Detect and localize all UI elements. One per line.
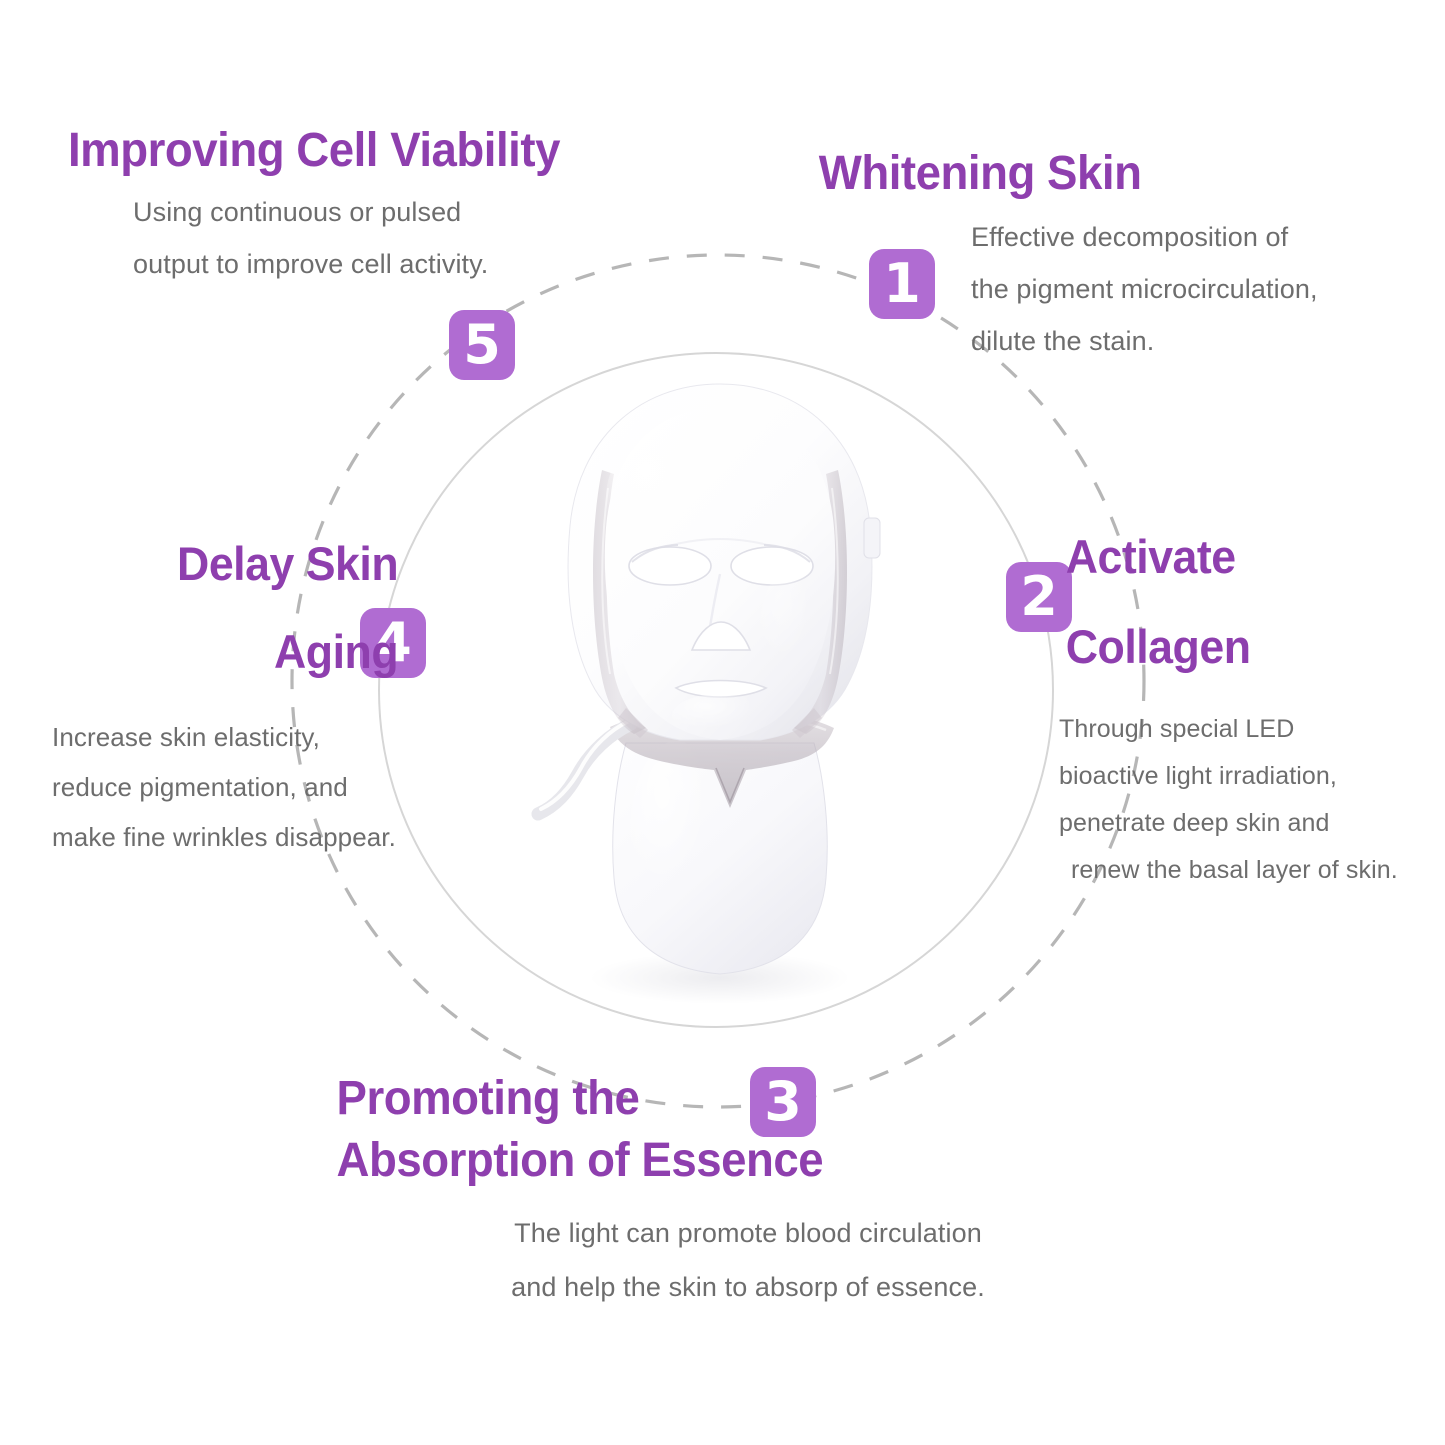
feature-body-1-line-2: the pigment microcirculation,	[971, 263, 1318, 315]
feature-body-2-line-1: Through special LED	[1059, 706, 1445, 753]
led-mask-illustration	[498, 378, 938, 1003]
feature-body-5-line-1: Using continuous or pulsed	[133, 186, 573, 238]
feature-body-3: The light can promote blood circulation …	[316, 1206, 1136, 1314]
feature-block-activate-collagen: Activate Collagen Through special LED bi…	[1056, 512, 1445, 894]
feature-body-2-line-2: bioactive light irradiation,	[1059, 753, 1445, 800]
product-image	[498, 378, 938, 1003]
feature-body-5-line-2: output to improve cell activity.	[133, 238, 573, 290]
infographic-canvas: 1 2 3 4 5 Improving Cell Viability Using…	[0, 0, 1445, 1445]
feature-body-1-line-1: Effective decomposition of	[971, 211, 1318, 263]
feature-body-2-line-4: renew the basal layer of skin.	[1059, 847, 1445, 894]
feature-title-3-line-1: Promoting the	[337, 1068, 1116, 1130]
feature-block-improving-cell-viability: Improving Cell Viability Using continuou…	[55, 122, 573, 290]
feature-title-3-line-2: Absorption of Essence	[337, 1130, 1116, 1192]
feature-title-5: Improving Cell Viability	[68, 122, 560, 180]
feature-title-4-line-1: Delay Skin	[64, 520, 398, 608]
feature-title-2-line-2: Collagen	[1066, 602, 1437, 692]
feature-body-3-line-1: The light can promote blood circulation	[360, 1206, 1136, 1260]
feature-body-1-line-3: dilute the stain.	[971, 315, 1318, 367]
feature-body-1: Effective decomposition of the pigment m…	[971, 211, 1318, 367]
feature-title-2-line-1: Activate	[1066, 512, 1437, 602]
feature-body-5: Using continuous or pulsed output to imp…	[133, 186, 573, 290]
feature-body-2: Through special LED bioactive light irra…	[1059, 706, 1445, 894]
feature-body-2-line-3: penetrate deep skin and	[1059, 800, 1445, 847]
step-badge-5[interactable]: 5	[449, 310, 515, 380]
side-port	[864, 518, 880, 558]
feature-block-delay-skin-aging: Delay Skin Aging Increase skin elasticit…	[52, 520, 522, 862]
feature-body-4-line-2: reduce pigmentation, and	[52, 762, 522, 812]
feature-body-3-line-2: and help the skin to absorp of essence.	[360, 1260, 1136, 1314]
feature-title-4-line-2: Aging	[64, 608, 398, 696]
feature-block-whitening-skin: Whitening Skin Effective decomposition o…	[806, 145, 1318, 367]
feature-title-1: Whitening Skin	[819, 145, 1305, 203]
feature-body-4: Increase skin elasticity, reduce pigment…	[52, 712, 522, 862]
feature-block-promoting-absorption: Promoting the Absorption of Essence The …	[316, 1068, 1136, 1314]
feature-title-3: Promoting the Absorption of Essence	[337, 1068, 1116, 1192]
feature-body-4-line-1: Increase skin elasticity,	[52, 712, 522, 762]
feature-title-2: Activate Collagen	[1066, 512, 1437, 692]
feature-body-4-line-3: make fine wrinkles disappear.	[52, 812, 522, 862]
feature-title-4: Delay Skin Aging	[64, 520, 511, 696]
